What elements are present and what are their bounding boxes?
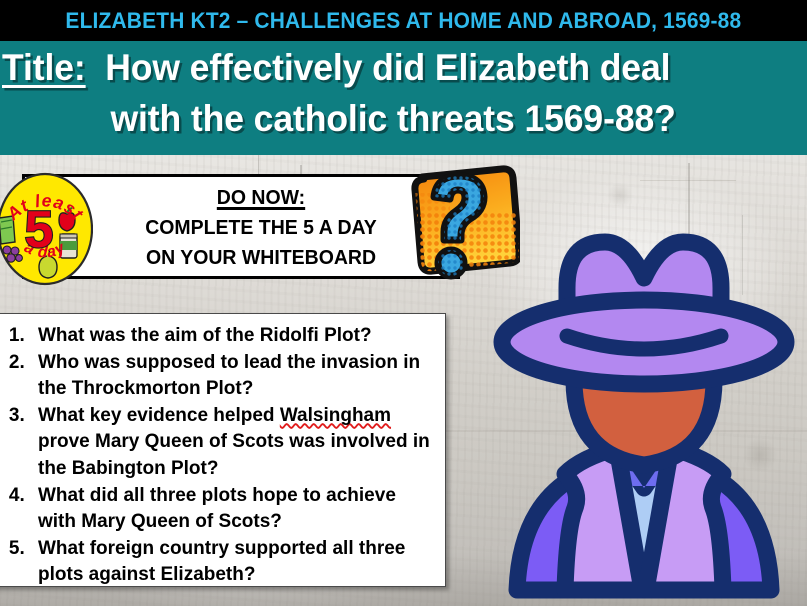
question-text: Who was supposed to lead the invasion in… <box>38 352 420 400</box>
unit-title: ELIZABETH KT2 – CHALLENGES AT HOME AND A… <box>66 8 742 34</box>
title-line-1: Title: How effectively did Elizabeth dea… <box>2 47 788 89</box>
list-item: Who was supposed to lead the invasion in… <box>30 350 437 403</box>
do-now-heading: DO NOW: <box>119 183 404 213</box>
title-label: Title: <box>2 47 86 88</box>
title-question-line-1: How effectively did Elizabeth deal <box>105 47 670 88</box>
background-mast-6 <box>640 180 736 181</box>
title-question-line-2: with the catholic threats 1569-88? <box>0 98 786 140</box>
spy-icon <box>489 190 799 606</box>
question-mark-graphic <box>398 163 520 291</box>
do-now-text: DO NOW: COMPLETE THE 5 A DAY ON YOUR WHI… <box>119 183 404 273</box>
question-text: What was the aim of the Ridolfi Plot? <box>38 325 372 346</box>
question-text: What did all three plots hope to achieve… <box>38 485 396 533</box>
question-mark-svg <box>398 163 520 291</box>
questions-list: What was the aim of the Ridolfi Plot? Wh… <box>0 314 445 587</box>
list-item: What did all three plots hope to achieve… <box>30 483 437 536</box>
five-a-day-badge: At least a day 5 <box>0 172 93 286</box>
title-band: Title: How effectively did Elizabeth dea… <box>0 41 807 155</box>
slide-header-bar: ELIZABETH KT2 – CHALLENGES AT HOME AND A… <box>0 0 807 41</box>
question-text: What foreign country supported all three… <box>38 538 405 586</box>
do-now-line-3: ON YOUR WHITEBOARD <box>119 243 404 273</box>
five-a-day-svg: At least a day 5 <box>0 172 93 286</box>
list-item: What key evidence helped Walsingham prov… <box>30 403 437 483</box>
do-now-questions-box: What was the aim of the Ridolfi Plot? Wh… <box>0 313 446 587</box>
question-text: What key evidence helped <box>38 405 280 426</box>
list-item: What foreign country supported all three… <box>30 536 437 587</box>
presentation-slide: ELIZABETH KT2 – CHALLENGES AT HOME AND A… <box>0 0 807 606</box>
badge-number: 5 <box>25 201 54 259</box>
do-now-line-2: COMPLETE THE 5 A DAY <box>119 213 404 243</box>
misspelled-word: Walsingham <box>280 405 391 426</box>
spy-incognito-illustration <box>489 190 799 606</box>
question-text-cont: prove Mary Queen of Scots was involved i… <box>38 431 430 479</box>
list-item: What was the aim of the Ridolfi Plot? <box>30 323 437 350</box>
